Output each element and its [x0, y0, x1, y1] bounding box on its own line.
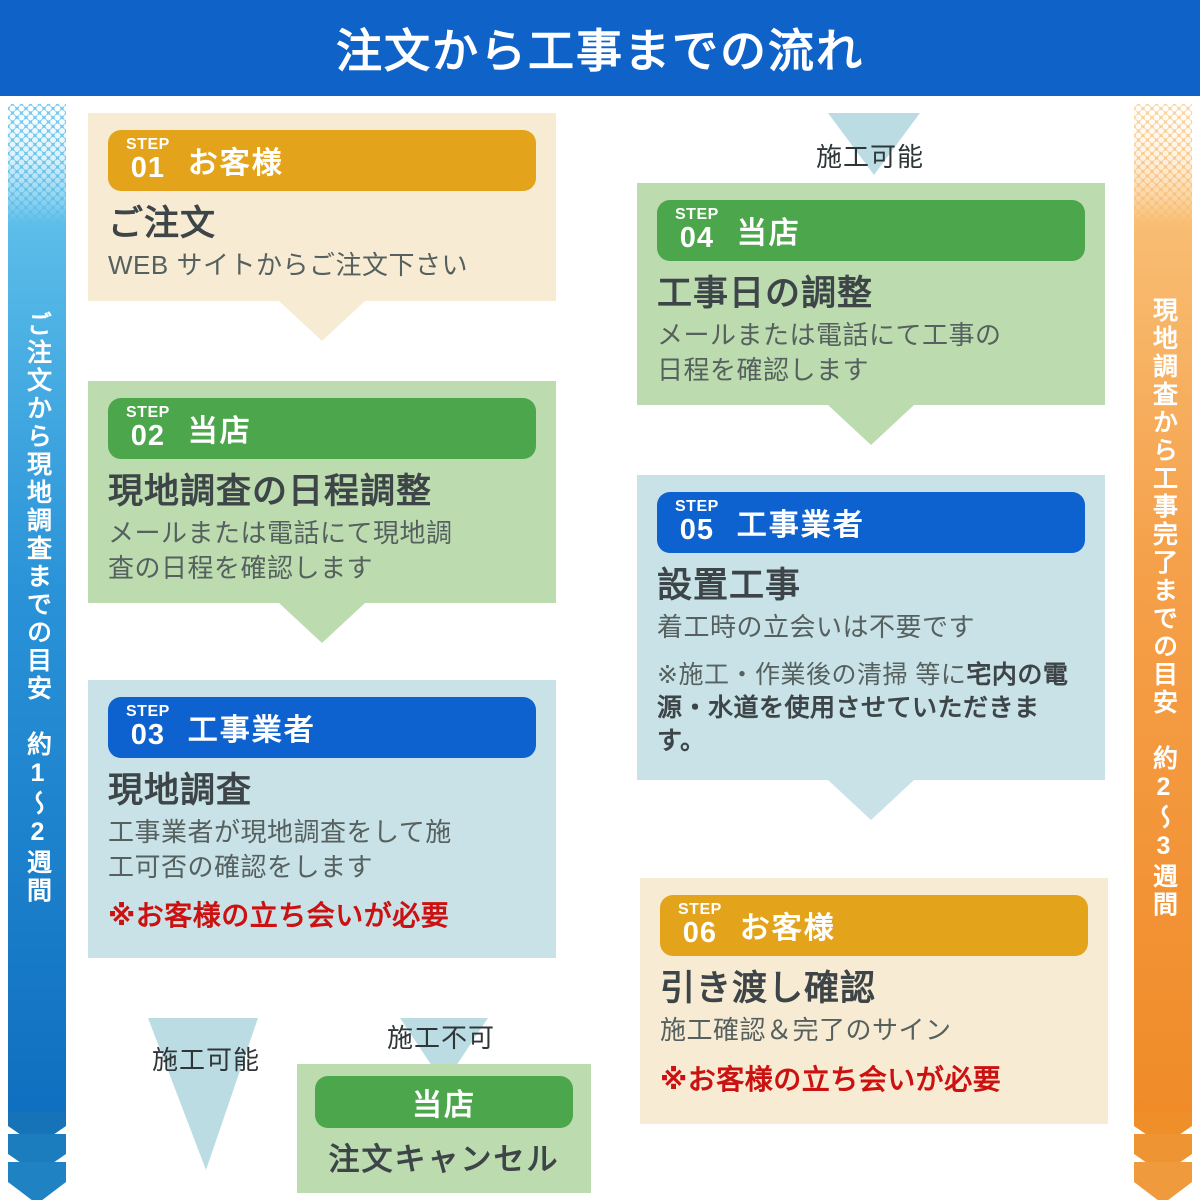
right-timeline-rail: 現地調査から工事完了までの目安 約2〜3週間 [1134, 104, 1192, 1200]
step-04-number-block: STEP 04 [675, 207, 719, 253]
step-card-04[interactable]: STEP 04 当店 工事日の調整 メールまたは電話にて工事の 日程を確認します [637, 183, 1105, 405]
right-rail-label: 現地調査から工事完了までの目安 約2〜3週間 [1151, 297, 1176, 919]
cancel-title: 注文キャンセル [315, 1134, 573, 1179]
arrow-down-icon [279, 603, 365, 643]
cancel-card[interactable]: 当店 注文キャンセル [297, 1064, 591, 1193]
step-05-note-plain: ※施工・作業後の清掃 等に [657, 661, 966, 689]
step-05-body: 着工時の立会いは不要です [657, 610, 1085, 644]
step-05-title: 設置工事 [657, 565, 1085, 606]
halftone-dots-icon [1134, 104, 1192, 224]
step-02-number-block: STEP 02 [126, 405, 170, 451]
step-01-actor: お客様 [188, 138, 284, 182]
chevrons-down-icon [1134, 1112, 1192, 1200]
step-card-05[interactable]: STEP 05 工事業者 設置工事 着工時の立会いは不要です ※施工・作業後の清… [637, 475, 1105, 780]
step-number: 02 [131, 422, 165, 451]
step-03-actor: 工事業者 [188, 705, 316, 749]
step-06-actor: お客様 [740, 903, 836, 947]
page-title: 注文から工事までの流れ [336, 15, 864, 81]
step-06-warning: ※お客様の立ち会いが必要 [660, 1058, 1088, 1098]
flowchart-page: 注文から工事までの流れ ご注文から現地調査までの目安 約1〜2週間 現地調査から… [0, 0, 1200, 1200]
step-03-warning: ※お客様の立ち会いが必要 [108, 894, 536, 934]
branch-label-ok-left: 施工可能 [152, 1040, 260, 1077]
page-header: 注文から工事までの流れ [0, 0, 1200, 96]
step-04-body: メールまたは電話にて工事の 日程を確認します [657, 318, 1085, 387]
step-02-actor: 当店 [188, 406, 252, 450]
arrow-down-icon [279, 301, 365, 341]
step-card-01[interactable]: STEP 01 お客様 ご注文 WEB サイトからご注文下さい [88, 113, 556, 301]
branch-label-ng: 施工不可 [387, 1018, 495, 1055]
step-label: STEP [678, 902, 722, 918]
step-label: STEP [126, 405, 170, 421]
step-label: STEP [126, 137, 170, 153]
step-card-02[interactable]: STEP 02 当店 現地調査の日程調整 メールまたは電話にて現地調 査の日程を… [88, 381, 556, 603]
step-number: 04 [680, 224, 714, 253]
step-04-pill: STEP 04 当店 [657, 200, 1085, 261]
step-05-pill: STEP 05 工事業者 [657, 492, 1085, 553]
halftone-dots-icon [8, 104, 66, 224]
step-01-pill: STEP 01 お客様 [108, 130, 536, 191]
step-number: 01 [131, 154, 165, 183]
step-01-number-block: STEP 01 [126, 137, 170, 183]
step-04-actor: 当店 [737, 208, 801, 252]
step-06-title: 引き渡し確認 [660, 968, 1088, 1009]
left-rail-body: ご注文から現地調査までの目安 約1〜2週間 [8, 104, 66, 1112]
step-05-note: ※施工・作業後の清掃 等に宅内の電源・水道を使用させていただきます。 [657, 659, 1085, 758]
step-06-number-block: STEP 06 [678, 902, 722, 948]
step-05-actor: 工事業者 [737, 500, 865, 544]
step-05-number-block: STEP 05 [675, 499, 719, 545]
step-label: STEP [675, 499, 719, 515]
step-06-body: 施工確認＆完了のサイン [660, 1013, 1088, 1047]
chevrons-down-icon [8, 1112, 66, 1200]
step-03-body: 工事業者が現地調査をして施 工可否の確認をします [108, 815, 536, 884]
step-number: 03 [131, 721, 165, 750]
step-number: 05 [680, 516, 714, 545]
step-06-pill: STEP 06 お客様 [660, 895, 1088, 956]
step-01-body: WEB サイトからご注文下さい [108, 248, 536, 282]
branch-label-ok-top: 施工可能 [816, 137, 924, 174]
step-02-body: メールまたは電話にて現地調 査の日程を確認します [108, 516, 536, 585]
step-card-06[interactable]: STEP 06 お客様 引き渡し確認 施工確認＆完了のサイン ※お客様の立ち会い… [640, 878, 1108, 1124]
step-card-03[interactable]: STEP 03 工事業者 現地調査 工事業者が現地調査をして施 工可否の確認をし… [88, 680, 556, 958]
step-02-title: 現地調査の日程調整 [108, 471, 536, 512]
step-label: STEP [675, 207, 719, 223]
left-rail-label: ご注文から現地調査までの目安 約1〜2週間 [25, 311, 50, 905]
step-02-pill: STEP 02 当店 [108, 398, 536, 459]
step-01-title: ご注文 [108, 203, 536, 244]
cancel-pill: 当店 [315, 1076, 573, 1128]
step-03-pill: STEP 03 工事業者 [108, 697, 536, 758]
step-04-title: 工事日の調整 [657, 273, 1085, 314]
arrow-down-icon [828, 780, 914, 820]
left-timeline-rail: ご注文から現地調査までの目安 約1〜2週間 [8, 104, 66, 1200]
step-label: STEP [126, 704, 170, 720]
step-number: 06 [683, 919, 717, 948]
arrow-down-icon [828, 405, 914, 445]
step-03-title: 現地調査 [108, 770, 536, 811]
cancel-actor: 当店 [412, 1080, 476, 1124]
right-rail-body: 現地調査から工事完了までの目安 約2〜3週間 [1134, 104, 1192, 1112]
step-05-note-bold-1: 宅内 [966, 661, 1017, 689]
step-03-number-block: STEP 03 [126, 704, 170, 750]
